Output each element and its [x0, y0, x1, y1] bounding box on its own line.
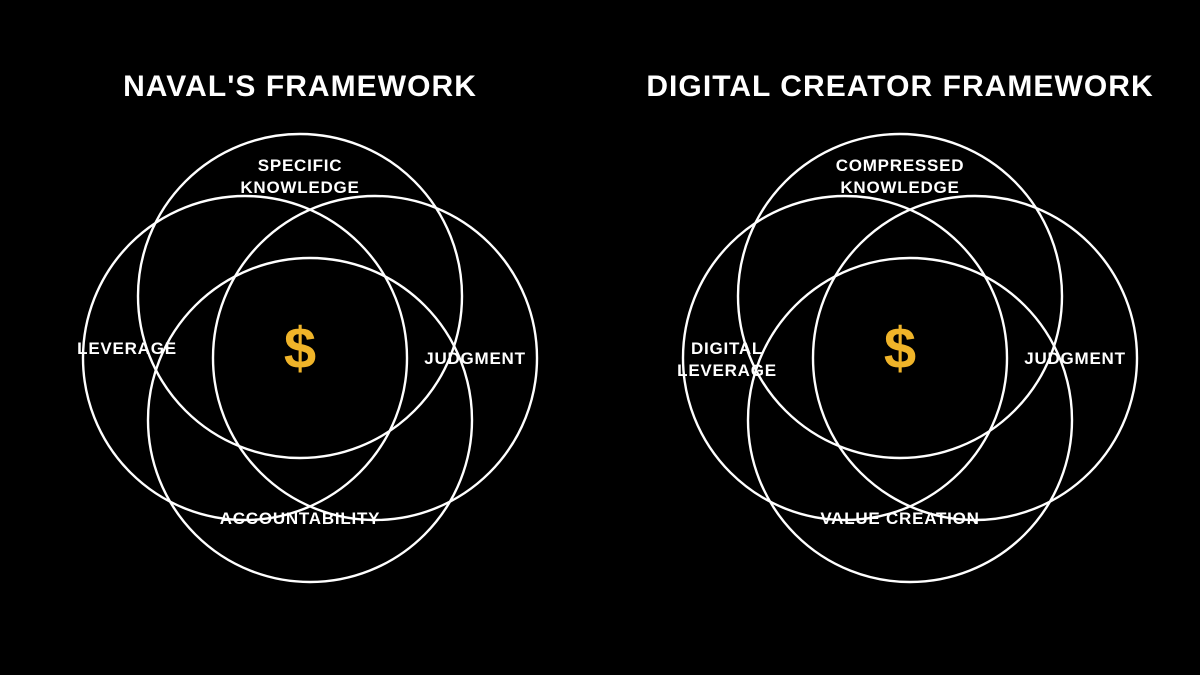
dollar-sign-icon: $	[820, 320, 980, 378]
panel-navals-framework: NAVAL'S FRAMEWORK SPECIFIC KNOWLEDGE LEV…	[0, 0, 600, 675]
page-title-right: DIGITAL CREATOR FRAMEWORK	[600, 70, 1200, 104]
panel-digital-creator-framework: DIGITAL CREATOR FRAMEWORK COMPRESSED KNO…	[600, 0, 1200, 675]
venn-label-right-right-panel: JUDGMENT	[970, 348, 1180, 370]
venn-label-right-left-panel: JUDGMENT	[370, 348, 580, 370]
venn-label-bottom-left-panel: ACCOUNTABILITY	[150, 508, 450, 530]
venn-label-left-right-panel: DIGITAL LEVERAGE	[622, 338, 832, 383]
venn-label-bottom-right-panel: VALUE CREATION	[750, 508, 1050, 530]
slide-canvas: NAVAL'S FRAMEWORK SPECIFIC KNOWLEDGE LEV…	[0, 0, 1200, 675]
page-title-left: NAVAL'S FRAMEWORK	[0, 70, 600, 104]
venn-label-top-left-panel: SPECIFIC KNOWLEDGE	[150, 155, 450, 200]
venn-label-left-left-panel: LEVERAGE	[22, 338, 232, 360]
dollar-sign-icon: $	[220, 320, 380, 378]
venn-label-top-right-panel: COMPRESSED KNOWLEDGE	[750, 155, 1050, 200]
